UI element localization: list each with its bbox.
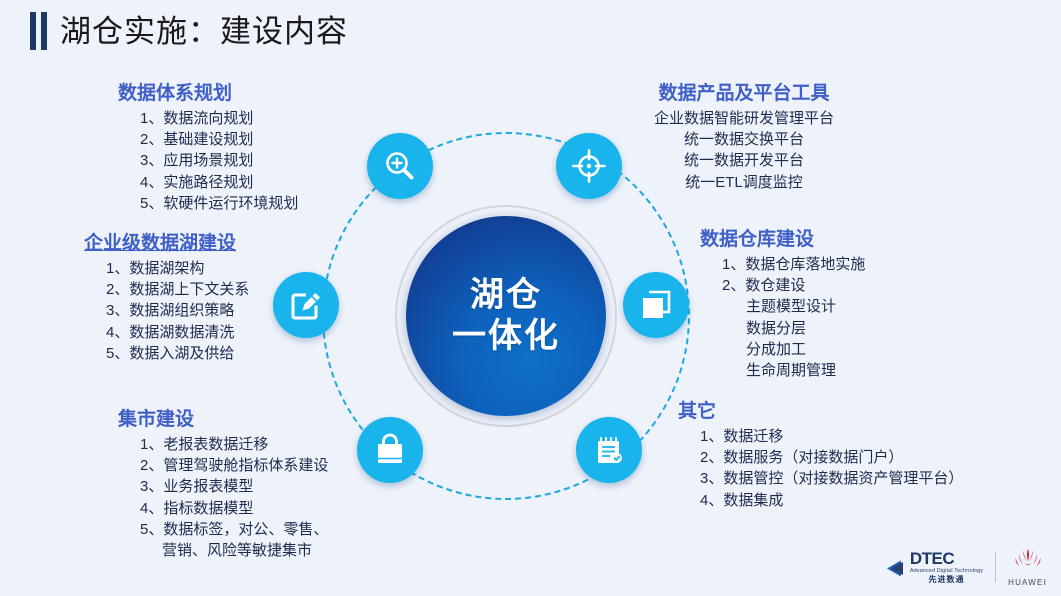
section-enterprise-data-lake: 企业级数据湖建设 1、数据湖架构 2、数据湖上下文关系 3、数据湖组织策略 4、… [84,232,249,364]
list-item: 1、数据湖架构 [84,258,249,279]
page-title: 湖仓实施：建设内容 [60,6,348,51]
list-item: 4、数据湖数据清洗 [84,322,249,343]
dtec-wordmark: DTEC Advanced Digital Technology 先进数通 [910,550,983,585]
logo-divider [995,552,996,582]
notepad-check-icon [591,432,627,468]
dtec-tagline: Advanced Digital Technology [910,569,983,575]
node-data-products-platform-tools[interactable] [556,133,622,199]
node-data-warehouse[interactable] [623,272,689,338]
huawei-logo: HUAWEI [1008,548,1047,587]
slide-header: 湖仓实施：建设内容 [0,0,1061,62]
list-item-continuation: 营销、风险等敏捷集市 [118,540,328,561]
accent-bar-1 [30,12,36,50]
list-item: 3、数据湖组织策略 [84,300,249,321]
section-heading: 数据产品及平台工具 [600,82,888,106]
section-item-list: 1、数据湖架构 2、数据湖上下文关系 3、数据湖组织策略 4、数据湖数据清洗 5… [84,258,249,364]
center-label-line-1: 湖仓 [452,275,560,316]
node-mart-construction[interactable] [357,417,423,483]
magnifier-plus-icon [382,148,418,184]
list-item: 5、数据标签，对公、零售、 [118,519,328,540]
dtec-word: DTEC [910,550,983,567]
center-label-line-2: 一体化 [452,316,560,357]
huawei-word: HUAWEI [1008,578,1047,587]
hub-and-spoke-diagram: 湖仓 一体化 [256,116,756,516]
section-heading: 数据体系规划 [118,82,298,106]
crosshair-target-icon [571,148,607,184]
center-hub-circle: 湖仓 一体化 [406,216,606,416]
edit-pencil-square-icon [288,287,324,323]
node-enterprise-data-lake[interactable] [273,272,339,338]
shopping-bag-icon [372,432,408,468]
huawei-flower-icon [1013,548,1043,577]
section-heading: 企业级数据湖建设 [84,232,249,256]
dtec-arrow-icon [885,559,907,576]
dtec-chinese-name: 先进数通 [910,576,983,584]
list-item: 2、数据湖上下文关系 [84,279,249,300]
list-item: 5、数据入湖及供给 [84,343,249,364]
node-data-system-planning[interactable] [367,133,433,199]
title-accent-bars [30,12,47,50]
footer-logos: DTEC Advanced Digital Technology 先进数通 HU [885,546,1047,588]
accent-bar-2 [41,12,47,50]
dtec-logo: DTEC Advanced Digital Technology 先进数通 [885,550,983,585]
center-hub-label: 湖仓 一体化 [452,275,560,358]
copy-layers-icon [638,287,674,323]
node-others[interactable] [576,417,642,483]
